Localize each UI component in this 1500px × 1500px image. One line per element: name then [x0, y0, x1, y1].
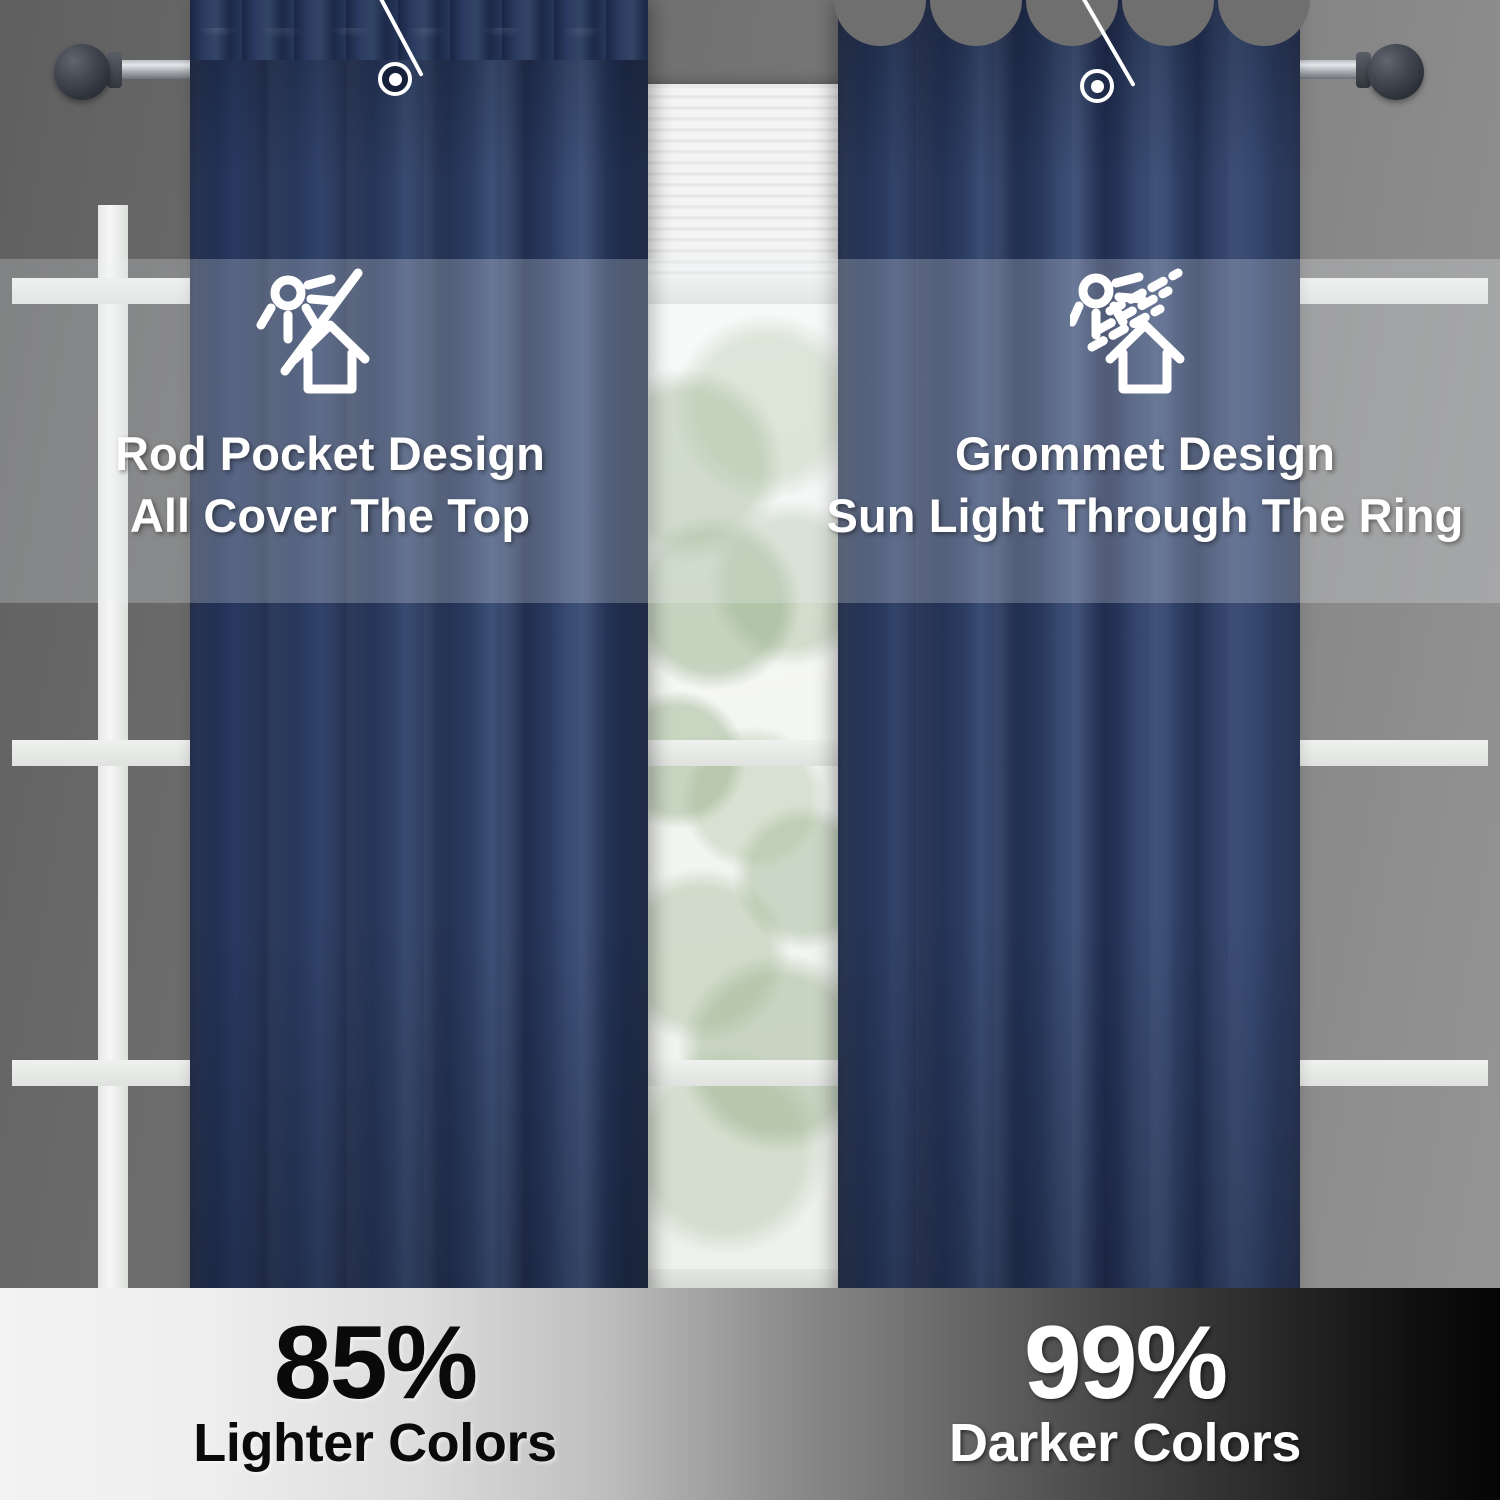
feature-title-line1: Rod Pocket Design	[115, 430, 545, 478]
feature-block-grommet: Grommet Design Sun Light Through The Rin…	[790, 259, 1500, 603]
percent-value: 85%	[274, 1316, 476, 1412]
rod-finial-left	[54, 44, 110, 100]
blackout-rating-banner: 85% Lighter Colors 99% Darker Colors	[0, 1288, 1500, 1500]
curtain-panel-rod-pocket	[190, 0, 648, 1300]
rating-darker-colors: 99% Darker Colors	[750, 1288, 1500, 1500]
percent-label: Lighter Colors	[193, 1415, 556, 1472]
percent-value: 99%	[1024, 1316, 1226, 1412]
percent-label: Darker Colors	[949, 1415, 1301, 1472]
feature-title-line2: All Cover The Top	[130, 492, 530, 540]
feature-overlay-band: Rod Pocket Design All Cover The Top	[0, 259, 1500, 603]
rod-finial-right	[1368, 44, 1424, 100]
sun-through-house-icon	[1070, 267, 1220, 408]
feature-title-line2: Sun Light Through The Ring	[827, 492, 1464, 540]
rating-lighter-colors: 85% Lighter Colors	[0, 1288, 750, 1500]
window-blind	[640, 88, 848, 286]
feature-block-rod-pocket: Rod Pocket Design All Cover The Top	[0, 259, 660, 603]
feature-title-line1: Grommet Design	[955, 430, 1335, 478]
sun-blocked-house-icon	[255, 267, 405, 408]
curtain-panel-grommet	[838, 0, 1300, 1300]
product-feature-image: Rod Pocket Design All Cover The Top	[0, 0, 1500, 1500]
